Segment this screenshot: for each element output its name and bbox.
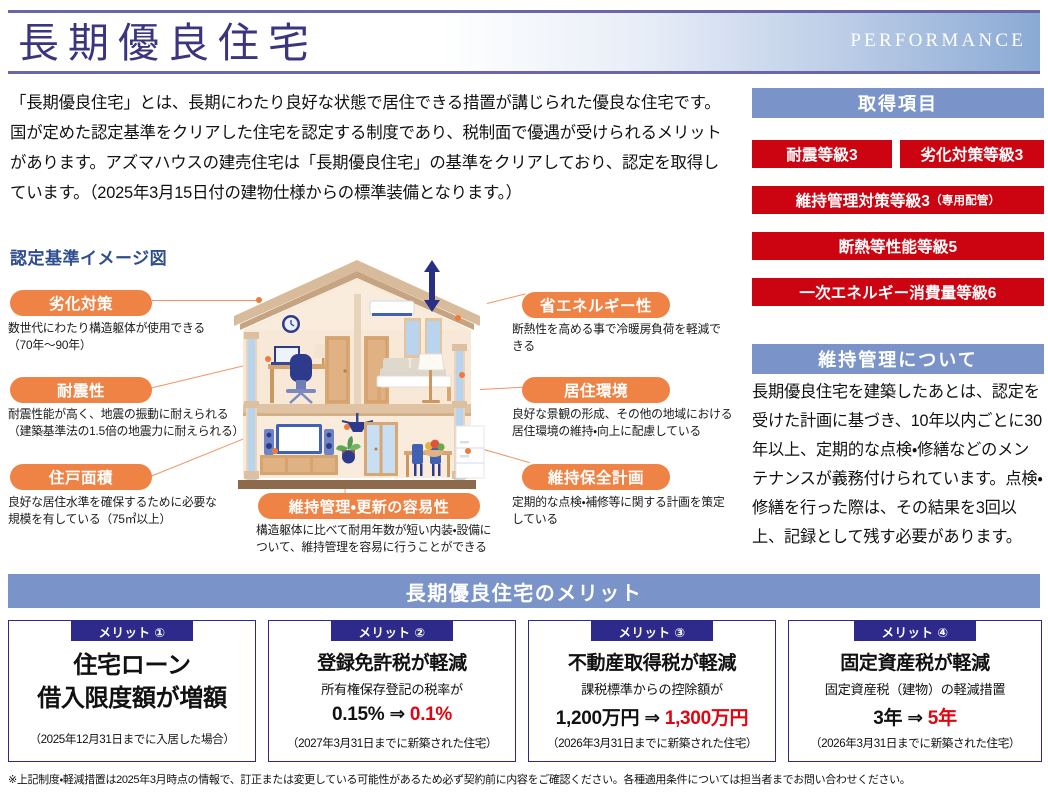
diagram-desc-living-environment: 良好な景観の形成、その他の地域における 居住環境の維持・向上に配慮している — [512, 406, 744, 440]
diagram-desc-maintenance-ease: 構造躯体に比べて耐用年数が短い内装・設備に ついて、維持管理を容易に行うことがで… — [256, 522, 536, 556]
merit-badge-1: メリット ① — [71, 621, 193, 641]
diagram-section-title: 認定基準イメージ図 — [10, 244, 167, 269]
acquired-badge-degradation-grade: 劣化対策等級3 — [900, 140, 1044, 168]
merit-badge-label: メリット ④ — [881, 622, 948, 641]
merit-badge-2: メリット ② — [331, 621, 453, 641]
merit-arrow-icon: ⇒ — [389, 704, 405, 725]
merits-banner-label: 長期優良住宅のメリット — [406, 577, 643, 606]
merit-note-4: （2026年3月31日までに新築された住宅） — [789, 735, 1041, 751]
diagram-pill-deterioration: 劣化対策 — [10, 290, 152, 316]
leader-dot-2 — [265, 356, 271, 362]
merit-note-2: （2027年3月31日までに新築された住宅） — [269, 735, 515, 751]
acquired-badge-maintenance-grade: 維持管理対策等級3（専用配管） — [752, 186, 1044, 214]
merit-value-before: 0.15% — [332, 704, 384, 725]
diagram-desc-energy-saving: 断熱性を高める事で冷暖房負荷を軽減で きる — [512, 321, 742, 355]
merit-value-before: 3年 — [873, 708, 902, 729]
diagram-pill-floor-area: 住戸面積 — [10, 464, 152, 490]
pill-label: 維持保全計画 — [548, 466, 644, 488]
merit-badge-4: メリット ④ — [854, 621, 976, 641]
merit-sub-3: 課税標準からの控除額が — [529, 679, 775, 698]
merit-note-3: （2026年3月31日までに新築された住宅） — [529, 735, 775, 751]
badge-note: （専用配管） — [930, 192, 1000, 208]
merits-banner: 長期優良住宅のメリット — [8, 574, 1040, 608]
merit-card-4: メリット ④ 固定資産税が軽減 固定資産税（建物）の軽減措置 3年 ⇒ 5年 （… — [788, 620, 1042, 762]
merit-value-after: 1,300万円 — [665, 708, 748, 729]
pill-label: 耐震性 — [57, 379, 105, 401]
merit-arrow-icon: ⇒ — [907, 708, 923, 729]
merit-card-1: メリット ① 住宅ローン 借入限度額が増額 （2025年12月31日までに入居し… — [8, 620, 256, 762]
leader-dot-6 — [465, 448, 471, 454]
merit-value-before: 1,200万円 — [556, 708, 639, 729]
merit-sub-2: 所有権保存登記の税率が — [269, 679, 515, 698]
footer-disclaimer: ※上記制度・軽減措置は2025年3月時点の情報で、訂正または変更している可能性が… — [8, 773, 1042, 788]
pill-label: 維持管理・更新の容易性 — [289, 496, 450, 517]
merit-card-3: メリット ③ 不動産取得税が軽減 課税標準からの控除額が 1,200万円 ⇒ 1… — [528, 620, 776, 762]
pill-label: 居住環境 — [564, 379, 628, 401]
page-title: 長期優良住宅 — [18, 16, 318, 70]
diagram-pill-maintenance-ease: 維持管理・更新の容易性 — [258, 493, 480, 519]
acquired-badge-insulation-grade: 断熱等性能等級5 — [752, 232, 1044, 260]
diagram-pill-energy-saving: 省エネルギー性 — [522, 292, 670, 318]
merit-note-1: （2025年12月31日までに入居した場合） — [9, 731, 255, 747]
header-eyebrow: PERFORMANCE — [850, 30, 1026, 52]
merit-value-after: 0.1% — [410, 704, 452, 725]
merit-value-after: 5年 — [928, 708, 957, 729]
badge-label: 一次エネルギー消費量等級6 — [799, 281, 996, 303]
merit-badge-label: メリット ③ — [618, 622, 685, 641]
diagram-pill-living-environment: 居住環境 — [522, 377, 670, 403]
merit-arrow-icon: ⇒ — [644, 708, 660, 729]
intro-paragraph: 「長期優良住宅」とは、長期にわたり良好な状態で居住できる措置が講じられた優良な住… — [10, 88, 732, 208]
merit-value-2: 0.15% ⇒ 0.1% — [269, 703, 515, 726]
diagram-pill-earthquake: 耐震性 — [10, 377, 152, 403]
diagram-desc-deterioration: 数世代にわたり構造躯体が使用できる （70年〜90年） — [8, 320, 248, 354]
acquired-badge-primary-energy-grade: 一次エネルギー消費量等級6 — [752, 278, 1044, 306]
pill-label: 劣化対策 — [49, 292, 113, 314]
badge-label: 断熱等性能等級5 — [839, 235, 958, 257]
diagram-desc-maintenance-plan: 定期的な点検・補修等に関する計画を策定 している — [512, 494, 744, 528]
merit-sub-4: 固定資産税（建物）の軽減措置 — [789, 679, 1041, 698]
badge-label: 維持管理対策等級3 — [796, 189, 930, 211]
pill-label: 住戸面積 — [49, 466, 113, 488]
badge-label: 劣化対策等級3 — [920, 143, 1023, 165]
merit-badge-3: メリット ③ — [591, 621, 713, 641]
leader-line-5 — [480, 386, 528, 390]
pill-label: 省エネルギー性 — [540, 294, 652, 316]
merit-value-4: 3年 ⇒ 5年 — [789, 703, 1041, 730]
merit-value-3: 1,200万円 ⇒ 1,300万円 — [529, 703, 775, 730]
diagram-pill-maintenance-plan: 維持保全計画 — [522, 464, 670, 490]
maintenance-body: 長期優良住宅を建築したあとは、認定を受けた計画に基づき、10年以内ごとに30年以… — [752, 378, 1044, 552]
house-cross-section-illustration — [228, 258, 486, 508]
section-heading-label: 取得項目 — [858, 90, 938, 116]
leader-dot-1 — [256, 297, 262, 303]
leader-dot-4 — [455, 315, 461, 321]
merit-card-2: メリット ② 登録免許税が軽減 所有権保存登記の税率が 0.15% ⇒ 0.1%… — [268, 620, 516, 762]
badge-label: 耐震等級3 — [786, 143, 858, 165]
diagram-desc-floor-area: 良好な居住水準を確保するために必要な 規模を有している（75㎡以上） — [8, 494, 248, 528]
acquired-items-heading: 取得項目 — [752, 88, 1044, 118]
maintenance-heading: 維持管理について — [752, 344, 1044, 374]
merit-title-2: 登録免許税が軽減 — [269, 651, 515, 676]
merit-title-4: 固定資産税が軽減 — [789, 651, 1041, 676]
merit-badge-label: メリット ① — [98, 622, 165, 641]
leader-line-4 — [487, 293, 526, 304]
leader-dot-3 — [272, 448, 278, 454]
leader-dot-7 — [344, 424, 350, 430]
merit-title-1: 住宅ローン 借入限度額が増額 — [9, 649, 255, 715]
header-rule-bottom — [8, 71, 1040, 74]
merit-badge-label: メリット ② — [358, 622, 425, 641]
acquired-badge-seismic-grade: 耐震等級3 — [752, 140, 892, 168]
merit-title-3: 不動産取得税が軽減 — [529, 651, 775, 676]
page-header: 長期優良住宅 PERFORMANCE — [0, 0, 1048, 80]
diagram-desc-earthquake: 耐震性能が高く、地震の振動に耐えられる （建築基準法の1.5倍の地震力に耐えられ… — [8, 406, 256, 440]
section-heading-label: 維持管理について — [818, 346, 977, 372]
leader-dot-5 — [459, 372, 465, 378]
